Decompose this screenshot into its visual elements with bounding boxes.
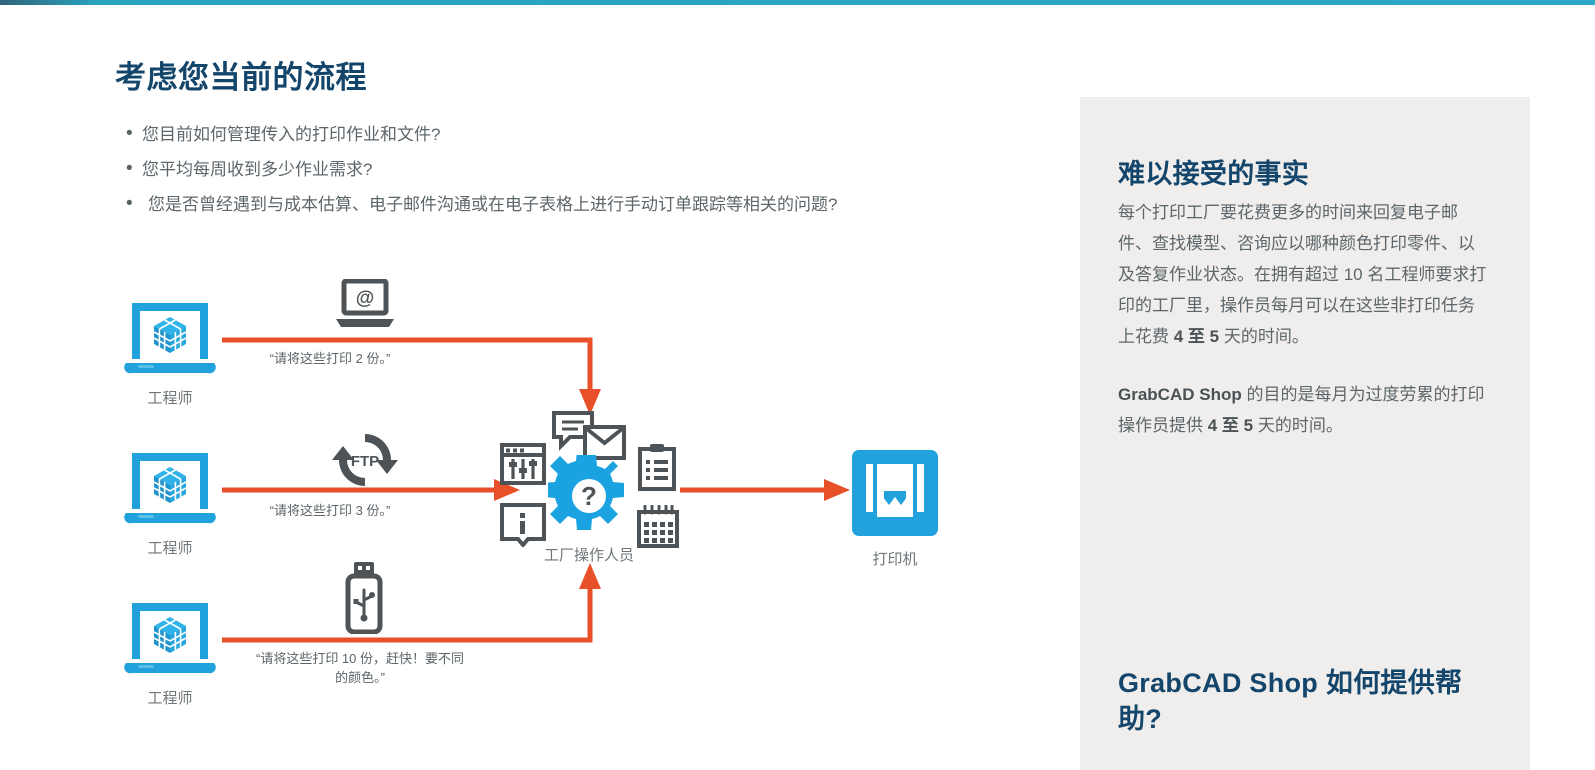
sidebar-content: 难以接受的事实 每个打印工厂要花费更多的时间来回复电子邮件、查找模型、咨询应以哪… [1118,152,1488,441]
bullet-text: 您是否曾经遇到与成本估算、电子邮件沟通或在电子表格上进行手动订单跟踪等相关的问题… [142,192,837,218]
email-laptop-glyph: @ [334,279,396,333]
fact-title: 难以接受的事实 [1118,152,1488,191]
browser-sliders-icon [500,443,546,490]
bullet-marker-icon: • [126,192,142,216]
gear-question-mark: ? [581,481,597,511]
quote-row-2: “请将这些打印 3 份。” [180,501,480,520]
list-item: • 您是否曾经遇到与成本估算、电子邮件沟通或在电子表格上进行手动订单跟踪等相关的… [126,192,1006,218]
engineer-label: 工程师 [100,537,240,558]
gear-question-icon: ? [548,455,630,542]
bullet-text: 您平均每周收到多少作业需求? [142,157,372,183]
list-item: • 您平均每周收到多少作业需求? [126,157,1006,183]
bullet-marker-icon: • [126,122,142,146]
list-item: • 您目前如何管理传入的打印作业和文件? [126,122,1006,148]
engineer-label: 工程师 [100,387,240,408]
shop-brand-name: GrabCAD Shop [1118,385,1242,404]
printer-glyph [852,450,938,536]
shop-para-end: 天的时间。 [1258,416,1343,435]
sidebar-panel: 难以接受的事实 每个打印工厂要花费更多的时间来回复电子邮件、查找模型、咨询应以哪… [1080,97,1530,770]
fact-body-part-3: 天的时间。 [1224,327,1309,346]
fact-body-highlight: 4 至 5 [1174,327,1224,346]
top-accent-bar [0,0,1595,5]
shop-paragraph: GrabCAD Shop 的目的是每月为过度劳累的打印操作员提供 4 至 5 天… [1118,379,1488,441]
ftp-label: FTP [351,453,379,470]
info-box-glyph [500,503,546,547]
bullet-marker-icon: • [126,157,142,181]
page-title: 考虑您当前的流程 [115,52,367,97]
engineer-laptop-2 [120,445,220,536]
printer-icon [852,450,938,541]
workflow-diagram: 工程师 [0,265,1070,765]
quote-row-3-line-2: 的颜色。” [335,670,385,685]
quote-row-3: “请将这些打印 10 份，赶快！要不同 的颜色。” [190,649,530,687]
usb-drive-glyph [340,562,388,634]
ftp-sync-glyph: FTP [330,427,400,493]
laptop-cube-icon [120,295,220,381]
engineer-label: 工程师 [100,687,240,708]
clipboard-list-icon [636,443,678,496]
ftp-sync-icon: FTP [330,427,400,498]
at-symbol: @ [356,288,375,309]
operator-label: 工厂操作人员 [519,544,659,565]
gear-question-glyph: ? [548,455,630,537]
printer-label: 打印机 [825,548,965,569]
calendar-glyph [636,505,680,549]
email-laptop-icon: @ [334,279,396,338]
shop-para-highlight: 4 至 5 [1208,416,1258,435]
quote-row-3-line-1: “请将这些打印 10 份，赶快！要不同 [256,651,464,666]
clipboard-list-glyph [636,443,678,491]
chat-envelope-glyph [552,411,626,461]
bullet-list: • 您目前如何管理传入的打印作业和文件? • 您平均每周收到多少作业需求? • … [126,122,1006,227]
usb-drive-icon [340,562,388,639]
help-title: GrabCAD Shop 如何提供帮助? [1118,665,1498,737]
fact-body-part-1: 每个打印工厂要花费更多的时间来回复电子邮件、查找模型、咨询应以哪种颜色打印零件、… [1118,203,1486,346]
engineer-laptop-1 [120,295,220,386]
browser-sliders-glyph [500,443,546,485]
fact-body: 每个打印工厂要花费更多的时间来回复电子邮件、查找模型、咨询应以哪种颜色打印零件、… [1118,197,1488,352]
quote-row-1: “请将这些打印 2 份。” [180,349,480,368]
bullet-text: 您目前如何管理传入的打印作业和文件? [142,122,440,148]
